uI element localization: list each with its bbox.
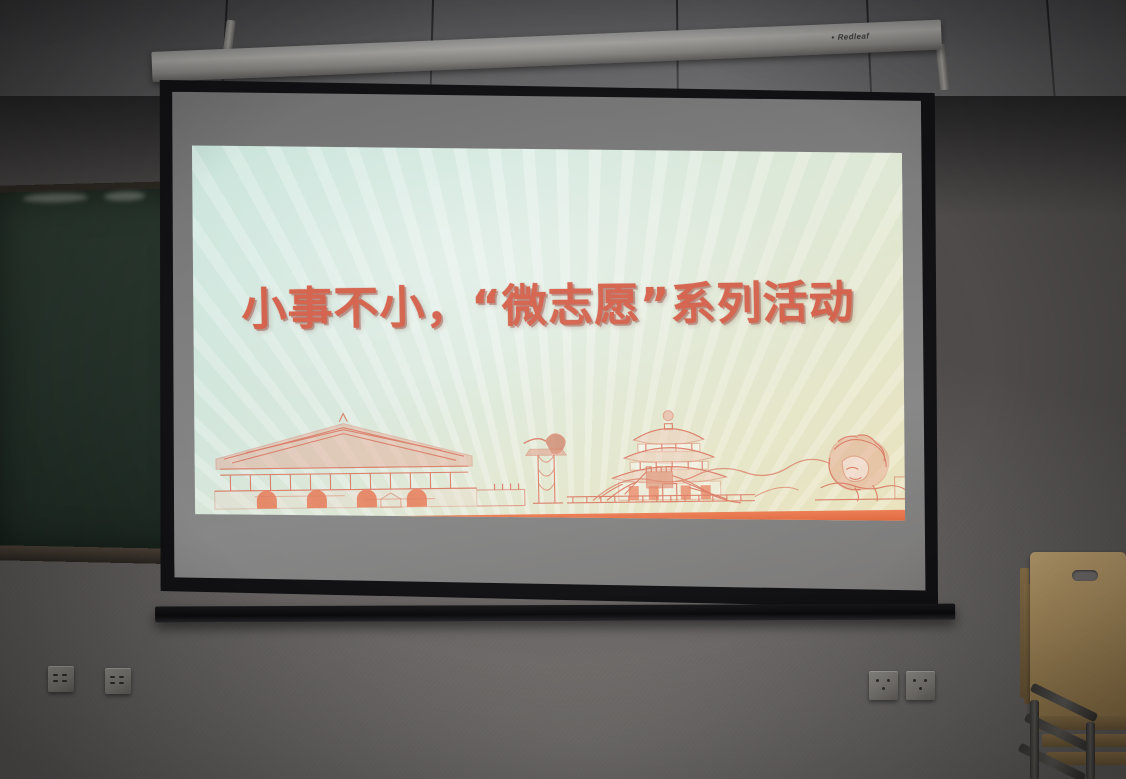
- temple-of-heaven: [611, 410, 727, 502]
- huabiao-column: [524, 434, 567, 504]
- wall-socket-right-2[interactable]: [906, 671, 935, 700]
- beijing-landmarks-illustration: [193, 393, 909, 520]
- wall-socket-left-2[interactable]: [105, 668, 131, 694]
- classroom-scene: Redleaf: [0, 0, 1126, 779]
- wall-socket-right-1[interactable]: [869, 671, 898, 700]
- screen-weight-bar[interactable]: [155, 604, 955, 623]
- chalk-smudge: [104, 191, 145, 201]
- projection-screen[interactable]: 小事不小，“微志愿”系列活动: [150, 52, 951, 622]
- projected-slide: 小事不小，“微志愿”系列活动: [188, 137, 910, 530]
- wall-socket-left-1[interactable]: [48, 666, 74, 692]
- tiananmen-gate: [213, 412, 477, 509]
- chair-leg: [1030, 700, 1039, 779]
- screen-brand-label: Redleaf: [831, 32, 869, 43]
- stone-lion: [814, 434, 909, 501]
- chalk-smudge: [23, 193, 88, 204]
- chair-handle-slot: [1072, 570, 1098, 581]
- chair-leg: [1086, 722, 1095, 779]
- slide-title: 小事不小，“微志愿”系列活动: [190, 265, 905, 339]
- stacked-chairs[interactable]: [1004, 540, 1126, 779]
